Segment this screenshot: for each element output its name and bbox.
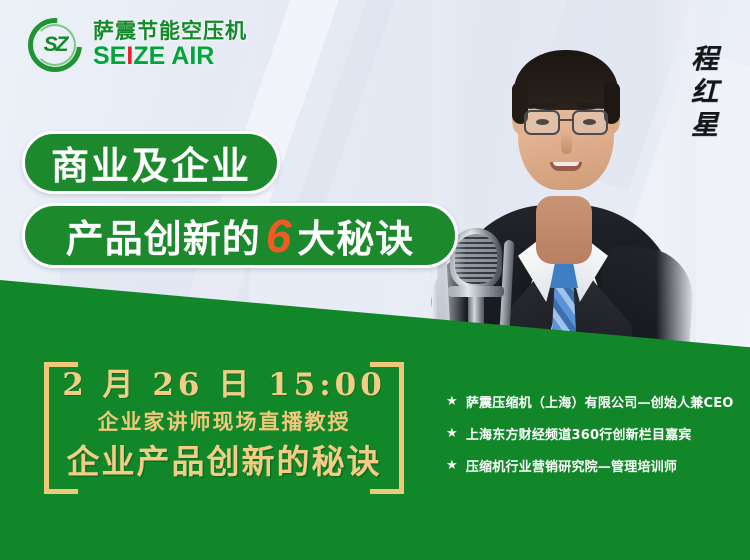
headline-line-1: 商业及企业 xyxy=(51,135,251,190)
portrait-glasses-bridge xyxy=(560,119,572,121)
headline-pill-primary: 商业及企业 xyxy=(22,131,280,194)
event-subtitle: 企业家讲师现场直播教授 xyxy=(44,410,404,433)
bracket-left-bottom xyxy=(44,489,78,494)
credential-item: ★ 上海东方财经频道360行创新栏目嘉宾 xyxy=(446,424,734,443)
portrait-teeth xyxy=(553,162,579,166)
star-icon: ★ xyxy=(446,427,458,440)
credential-text: 萨震压缩机（上海）有限公司—创始人兼CEO xyxy=(466,392,734,411)
logo-english-name: SEIZE AIR xyxy=(93,44,247,69)
brand-logo: SZ 萨震节能空压机 SEIZE AIR xyxy=(26,16,247,74)
portrait-glasses-lens-right xyxy=(572,110,608,135)
event-datetime: 2 月 26 日 15:00 xyxy=(44,368,404,402)
star-icon: ★ xyxy=(446,395,458,408)
logo-chinese-name: 萨震节能空压机 xyxy=(93,21,247,43)
headline-number-badge: 6 xyxy=(261,213,298,259)
speaker-name-char-1: 程 xyxy=(691,46,718,73)
headline-line-2-before: 产品创新的 xyxy=(66,208,261,263)
logo-monogram: SZ xyxy=(36,32,74,58)
portrait-nose xyxy=(561,132,572,154)
headline-pill-secondary: 产品创新的6大秘诀 xyxy=(22,203,458,268)
bracket-right-bottom xyxy=(370,489,404,494)
speaker-name-char-2: 红 xyxy=(691,79,718,106)
logo-en-part1: SE xyxy=(93,42,126,70)
portrait-neck xyxy=(536,196,592,264)
logo-wordmark: 萨震节能空压机 SEIZE AIR xyxy=(93,21,247,69)
speaker-name-char-3: 星 xyxy=(691,112,718,139)
credential-text: 上海东方财经频道360行创新栏目嘉宾 xyxy=(466,424,692,443)
credential-text: 压缩机行业营销研究院—管理培训师 xyxy=(466,456,677,475)
headline-line-2-after: 大秘诀 xyxy=(297,208,414,263)
speaker-credentials-list: ★ 萨震压缩机（上海）有限公司—创始人兼CEO ★ 上海东方财经频道360行创新… xyxy=(446,392,734,475)
background-stripe-b xyxy=(259,0,427,322)
credential-item: ★ 萨震压缩机（上海）有限公司—创始人兼CEO xyxy=(446,392,734,411)
event-details-block: 2 月 26 日 15:00 企业家讲师现场直播教授 企业产品创新的秘诀 xyxy=(44,362,404,494)
event-topic: 企业产品创新的秘诀 xyxy=(44,444,404,480)
portrait-hair xyxy=(514,50,618,110)
portrait-glasses-lens-left xyxy=(524,110,560,135)
speaker-name-vertical: 程 红 星 xyxy=(691,46,718,139)
star-icon: ★ xyxy=(446,459,458,472)
credential-item: ★ 压缩机行业营销研究院—管理培训师 xyxy=(446,456,734,475)
logo-en-part2: ZE AIR xyxy=(133,42,214,70)
logo-circle-icon: SZ xyxy=(26,16,84,74)
promo-poster: SZ 萨震节能空压机 SEIZE AIR 商业及企业 产品创新的6大秘诀 程 红… xyxy=(0,0,750,560)
